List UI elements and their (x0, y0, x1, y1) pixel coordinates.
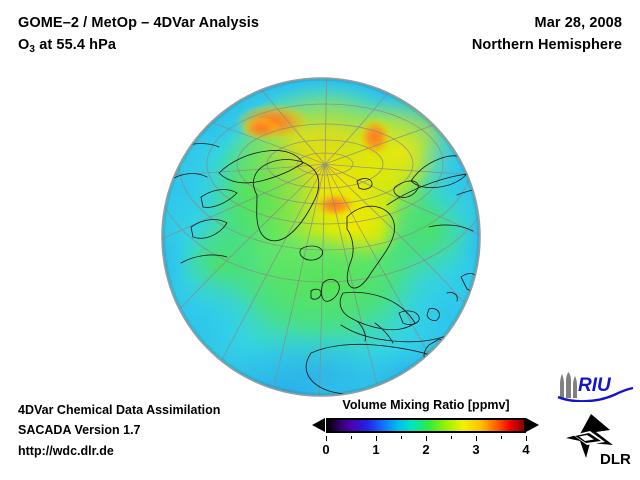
footer-line-url: http://wdc.dlr.de (18, 441, 220, 461)
footer-line-method: 4DVar Chemical Data Assimilation (18, 400, 220, 420)
colorbar-tick-major (326, 436, 327, 441)
footer-line-version: SACADA Version 1.7 (18, 420, 220, 440)
region-label: Northern Hemisphere (472, 34, 622, 56)
riu-logo: RIU (556, 372, 634, 402)
footer-text: 4DVar Chemical Data Assimilation SACADA … (18, 400, 220, 461)
colorbar-extend-high-arrow (526, 418, 539, 432)
colorbar-tick-label: 0 (322, 442, 329, 457)
riu-tower-icon (560, 372, 577, 398)
colorbar-tick-labels: 01234 (326, 442, 526, 459)
colorbar: Volume Mixing Ratio [ppmv] 01234 (310, 398, 542, 459)
coastline-india (473, 349, 480, 379)
colorbar-tick-minor (351, 436, 352, 439)
species-level-label: O3 at 55.4 hPa (18, 34, 259, 56)
field-siberia-max (358, 117, 392, 157)
colorbar-tick-minor (451, 436, 452, 439)
colorbar-gradient (326, 418, 526, 433)
colorbar-tick-major (476, 436, 477, 441)
colorbar-tick-minor (501, 436, 502, 439)
dlr-wordmark: DLR (600, 451, 631, 468)
globe-map (161, 77, 481, 397)
species-subscript: 3 (29, 44, 35, 55)
species-symbol: O (18, 37, 29, 53)
colorbar-tick-label: 2 (422, 442, 429, 457)
colorbar-tick-label: 3 (472, 442, 479, 457)
colorbar-extend-low-arrow (312, 418, 325, 432)
dlr-logo: DLR (566, 414, 632, 468)
colorbar-tick-label: 4 (522, 442, 529, 457)
colorbar-tick-minor (401, 436, 402, 439)
pressure-level: at 55.4 hPa (35, 37, 116, 53)
colorbar-tick-major (526, 436, 527, 441)
riu-wordmark: RIU (578, 375, 612, 396)
colorbar-tick-major (376, 436, 377, 441)
header-left: GOME–2 / MetOp – 4DVar Analysis O3 at 55… (18, 12, 259, 57)
page-title: GOME–2 / MetOp – 4DVar Analysis (18, 12, 259, 34)
date-label: Mar 28, 2008 (472, 12, 622, 34)
colorbar-tick-label: 1 (372, 442, 379, 457)
colorbar-tick-major (426, 436, 427, 441)
header-right: Mar 28, 2008 Northern Hemisphere (472, 12, 622, 57)
colorbar-title: Volume Mixing Ratio [ppmv] (310, 398, 542, 412)
colorbar-row (310, 416, 542, 436)
